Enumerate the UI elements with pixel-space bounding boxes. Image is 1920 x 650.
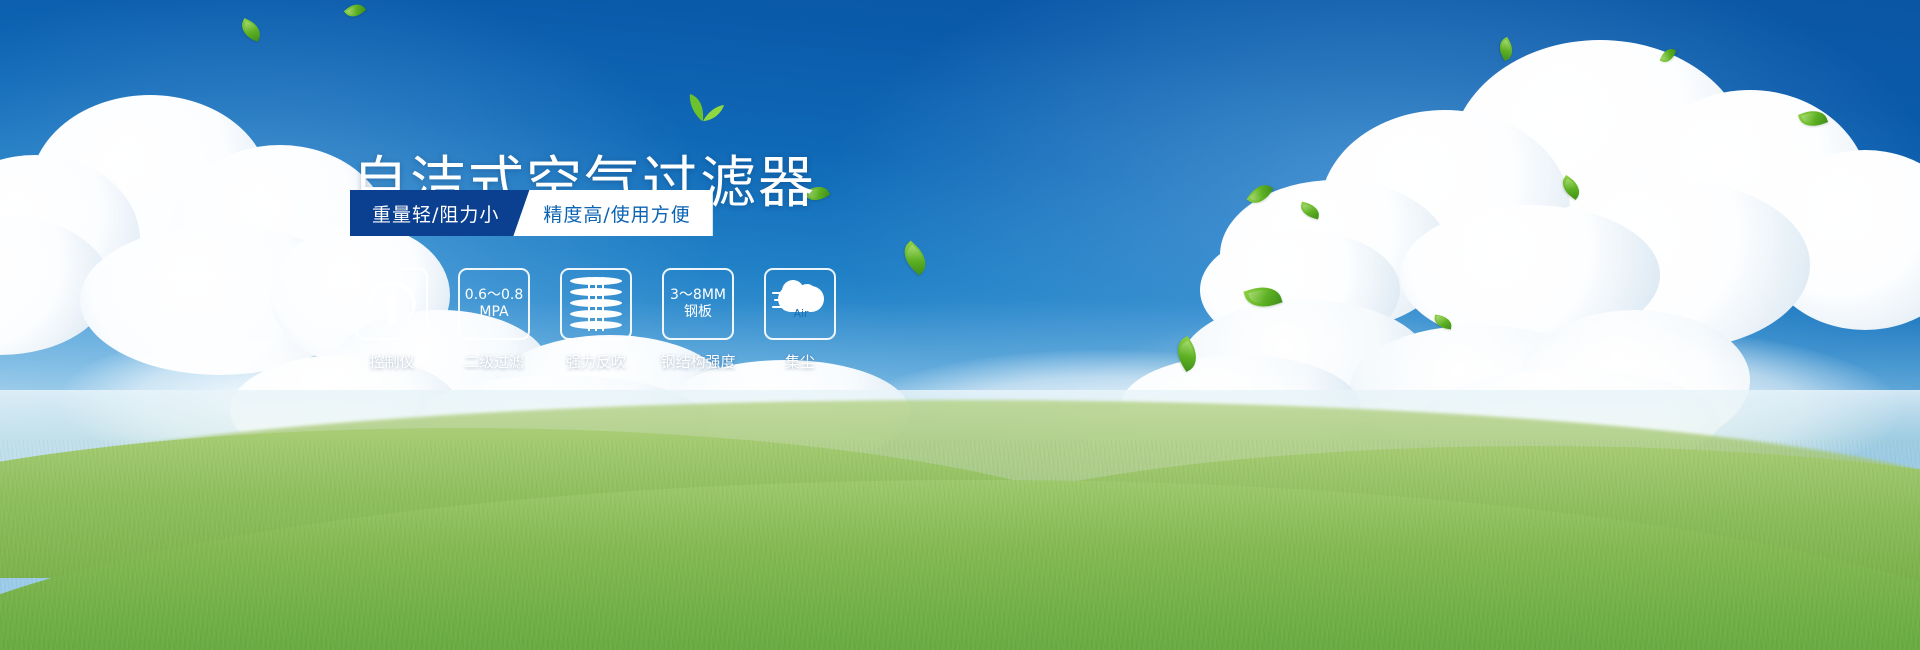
feature-icon-text-line2: MPA bbox=[465, 304, 524, 321]
feature-item: NO OFF 控制仪 bbox=[356, 268, 428, 372]
feature-icon-box: 3～8MM 钢板 bbox=[662, 268, 734, 340]
gauge-label-off: OFF bbox=[408, 324, 421, 331]
gauge-tick bbox=[410, 312, 413, 315]
feature-label: 强力反吹 bbox=[566, 351, 626, 372]
filter-stack-icon bbox=[570, 277, 622, 331]
feature-item: Air 集尘 bbox=[764, 268, 836, 372]
gauge-icon: NO OFF bbox=[363, 275, 421, 333]
gauge-tick bbox=[407, 317, 409, 319]
feature-icon-text-line2: 钢板 bbox=[670, 304, 726, 321]
feature-icon-box bbox=[560, 268, 632, 340]
feature-icon-text-line1: 0.6～0.8 bbox=[465, 287, 524, 304]
tagline-badge-primary: 重量轻/阻力小 bbox=[350, 190, 529, 236]
banner-content: 自洁式空气过滤器 重量轻/阻力小 精度高/使用方便 NO OFF 控制仪 bbox=[0, 0, 1920, 650]
feature-label: 控制仪 bbox=[369, 351, 414, 372]
feature-label: 集尘 bbox=[785, 351, 815, 372]
title-leaf-icon bbox=[680, 92, 724, 122]
air-cloud-icon-text: Air bbox=[793, 307, 808, 320]
feature-item: 0.6～0.8 MPA 二级过滤 bbox=[458, 268, 530, 372]
feature-icon-text-line1: 3～8MM bbox=[670, 287, 726, 304]
gauge-tick bbox=[409, 315, 411, 317]
feature-icon-text: 0.6～0.8 MPA bbox=[465, 287, 524, 321]
feature-label: 钢结构强度 bbox=[661, 351, 736, 372]
feature-list: NO OFF 控制仪 0.6～0.8 MPA 二级过滤 bbox=[356, 268, 836, 372]
feature-label: 二级过滤 bbox=[464, 351, 524, 372]
tagline-badges: 重量轻/阻力小 精度高/使用方便 bbox=[350, 190, 713, 236]
gauge-tick bbox=[369, 298, 372, 301]
feature-item: 3～8MM 钢板 钢结构强度 bbox=[662, 268, 734, 372]
gauge-tick bbox=[370, 311, 372, 313]
feature-icon-box: Air bbox=[764, 268, 836, 340]
feature-icon-box: NO OFF bbox=[356, 268, 428, 340]
feature-icon-box: 0.6～0.8 MPA bbox=[458, 268, 530, 340]
gauge-needle bbox=[388, 294, 397, 324]
gauge-tick bbox=[368, 301, 371, 304]
tagline-badge-secondary: 精度高/使用方便 bbox=[513, 190, 712, 236]
hero-banner: 自洁式空气过滤器 重量轻/阻力小 精度高/使用方便 NO OFF 控制仪 bbox=[0, 0, 1920, 650]
air-cloud-icon: Air bbox=[772, 280, 828, 328]
feature-icon-text: 3～8MM 钢板 bbox=[670, 287, 726, 321]
feature-item: 强力反吹 bbox=[560, 268, 632, 372]
